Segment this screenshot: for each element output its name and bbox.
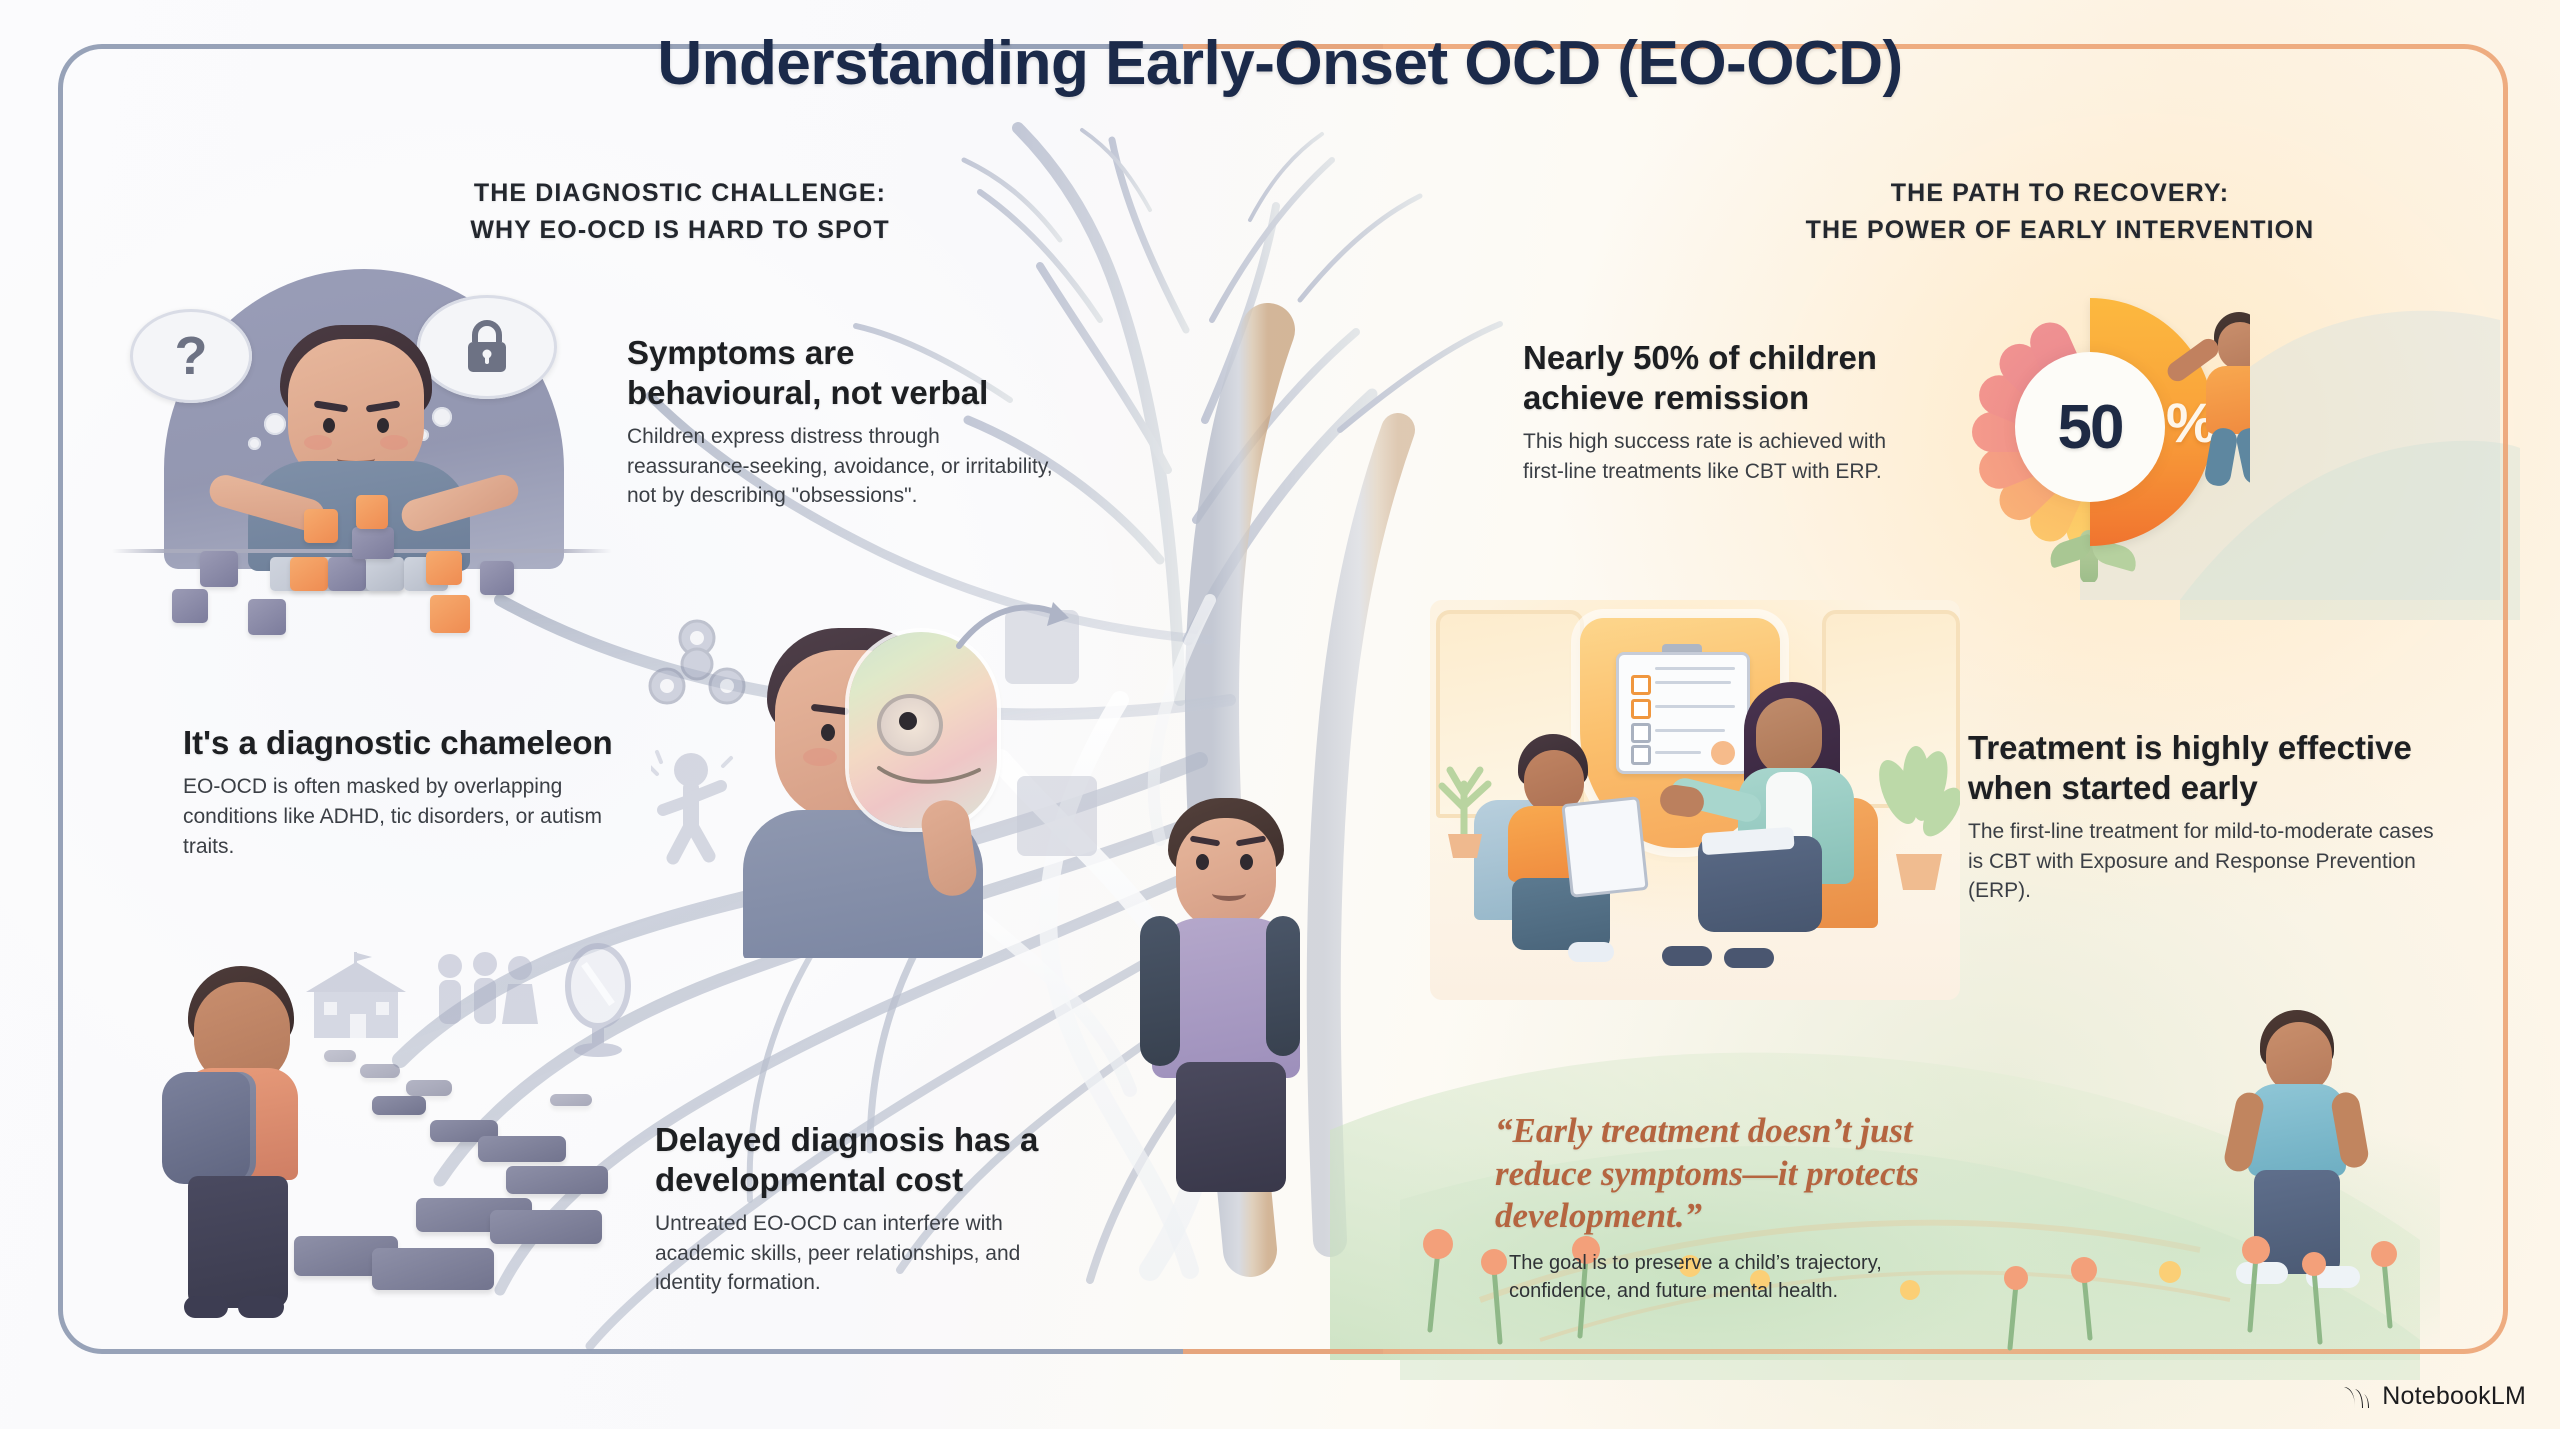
block-delayed-diagnosis: Delayed diagnosis has a developmental co… xyxy=(655,1120,1075,1298)
boy-legs xyxy=(188,1176,288,1308)
block-symptoms-behavioural: Symptoms are behavioural, not verbal Chi… xyxy=(627,333,1057,511)
boy-eye-right xyxy=(377,418,389,433)
block-body: This high success rate is achieved with … xyxy=(1523,427,1923,487)
plant-icon xyxy=(1430,750,1500,860)
stepping-stone-cracked xyxy=(490,1210,602,1244)
stepping-stone-cracked xyxy=(372,1248,494,1290)
block-body: Untreated EO-OCD can interfere with acad… xyxy=(655,1209,1075,1298)
handout-clipboard xyxy=(1561,796,1648,898)
question-mark-thought-bubble: ? xyxy=(130,309,252,403)
clipboard-line xyxy=(1655,681,1731,684)
school-icon xyxy=(296,952,416,1044)
block-in-hand-right xyxy=(356,495,388,529)
checkbox-checked xyxy=(1631,699,1651,719)
block-title: Symptoms are behavioural, not verbal xyxy=(627,333,1057,413)
scattered-block xyxy=(172,589,208,623)
boy-shoe-left xyxy=(184,1296,228,1318)
chameleon-smile xyxy=(875,754,985,794)
left-section-heading: THE DIAGNOSTIC CHALLENGE: WHY EO-OCD IS … xyxy=(300,175,1060,249)
right-section-heading-line2: THE POWER OF EARLY INTERVENTION xyxy=(1806,216,2315,244)
infographic-poster: Understanding Early-Onset OCD (EO-OCD) T… xyxy=(0,0,2560,1429)
boy-eye-left xyxy=(1196,854,1209,870)
thought-dot xyxy=(432,407,452,427)
boy-shoe-right xyxy=(238,1296,284,1318)
boy-legs xyxy=(1176,1062,1286,1192)
block-remission-rate: Nearly 50% of children achieve remission… xyxy=(1523,338,1923,486)
page-title: Understanding Early-Onset OCD (EO-OCD) xyxy=(0,28,2560,99)
left-section-heading-line2: WHY EO-OCD IS HARD TO SPOT xyxy=(470,216,889,244)
remission-gauge-value: 50 xyxy=(2015,352,2165,502)
stepping-stone-cracked xyxy=(506,1166,608,1194)
thought-dot xyxy=(264,413,286,435)
stamp-icon xyxy=(1711,741,1735,765)
right-section-heading: THE PATH TO RECOVERY: THE POWER OF EARLY… xyxy=(1640,175,2480,249)
stepping-stone xyxy=(324,1050,356,1062)
boy-shoe-left xyxy=(2236,1262,2288,1284)
checkbox-empty xyxy=(1631,723,1651,743)
block-body: EO-OCD is often masked by overlapping co… xyxy=(183,772,653,861)
block-orange xyxy=(290,557,328,591)
block-treatment-effective: Treatment is highly effective when start… xyxy=(1968,728,2448,906)
lock-icon xyxy=(461,318,513,376)
left-section-heading-line1: THE DIAGNOSTIC CHALLENGE: xyxy=(474,179,886,207)
peers-icon xyxy=(430,950,540,1036)
boy-shirt xyxy=(2248,1084,2346,1176)
scattered-block xyxy=(430,595,470,633)
clipboard-line xyxy=(1655,705,1735,708)
block-title: Treatment is highly effective when start… xyxy=(1968,728,2448,808)
curved-arrow-icon xyxy=(955,596,1075,666)
child-shirt xyxy=(2206,366,2250,434)
jumping-child xyxy=(2178,306,2250,506)
backpack-strap-right xyxy=(1266,916,1300,1056)
child-leg-right xyxy=(2234,426,2250,486)
boy-legs xyxy=(2254,1170,2340,1274)
stepping-stone-cracked xyxy=(478,1136,566,1162)
clipboard-line xyxy=(1655,729,1725,732)
lock-thought-bubble xyxy=(417,295,557,399)
puzzle-piece-icon xyxy=(1017,776,1097,856)
boy-eye-left xyxy=(323,418,335,433)
right-section-heading-line1: THE PATH TO RECOVERY: xyxy=(1891,179,2229,207)
scattered-block xyxy=(426,551,462,585)
therapist-shoe xyxy=(1724,948,1774,968)
block-grey xyxy=(366,557,404,591)
stepping-stone xyxy=(406,1080,452,1096)
boy-eye-right xyxy=(1240,854,1253,870)
stepping-stone xyxy=(550,1094,592,1106)
pull-quote-caption: The goal is to preserve a child’s trajec… xyxy=(1509,1249,1955,1306)
scattered-block xyxy=(248,599,286,635)
illustration-remission-gauge: 50 % xyxy=(1930,282,2250,582)
stepping-stone xyxy=(372,1096,426,1115)
child-shoe xyxy=(1568,942,1614,962)
block-body: The first-line treatment for mild-to-mod… xyxy=(1968,817,2448,906)
illustration-walking-boy xyxy=(2190,1000,2430,1300)
scattered-block xyxy=(200,551,238,587)
block-body: Children express distress through reassu… xyxy=(627,422,1057,511)
block-purple xyxy=(328,557,366,591)
checkbox-empty xyxy=(1631,745,1651,765)
plant-icon xyxy=(1874,746,1960,896)
therapist-head xyxy=(1756,698,1822,776)
fidget-spinner-icon xyxy=(645,616,749,712)
block-in-hand-left xyxy=(304,509,338,543)
block-title: It's a diagnostic chameleon xyxy=(183,723,653,763)
illustration-chameleon-mask xyxy=(625,588,1125,958)
boy-eye xyxy=(821,724,835,741)
restless-child-icon xyxy=(651,748,743,868)
backpack xyxy=(162,1072,256,1184)
checkbox-checked xyxy=(1631,675,1651,695)
notebooklm-logo-icon xyxy=(2341,1384,2371,1410)
boy-cheek-left xyxy=(304,435,332,450)
notebooklm-label: NotebookLM xyxy=(2382,1382,2526,1411)
illustration-therapy-session xyxy=(1430,600,1960,1000)
scattered-block xyxy=(480,561,514,595)
block-pull-quote: “Early treatment doesn’t just reduce sym… xyxy=(1495,1110,1955,1306)
pull-quote-text: “Early treatment doesn’t just reduce sym… xyxy=(1495,1110,1955,1238)
block-title: Delayed diagnosis has a developmental co… xyxy=(655,1120,1075,1200)
child-leg-left xyxy=(2203,426,2239,488)
illustration-entangled-boy xyxy=(1100,790,1400,1210)
child-head xyxy=(2218,322,2250,370)
boy-head xyxy=(1176,818,1276,930)
boy-cheek xyxy=(803,748,837,766)
block-title: Nearly 50% of children achieve remission xyxy=(1523,338,1923,418)
clipboard-line xyxy=(1655,667,1735,670)
boy-cheek-right xyxy=(380,435,408,450)
block-diagnostic-chameleon: It's a diagnostic chameleon EO-OCD is of… xyxy=(183,723,653,861)
clipboard-icon xyxy=(1616,652,1750,774)
backpack-strap-left xyxy=(1140,916,1180,1066)
therapist-shoe xyxy=(1662,946,1712,966)
illustration-stepping-stones xyxy=(110,930,640,1330)
boy-mouth xyxy=(1212,886,1246,901)
clipboard-line xyxy=(1655,751,1701,754)
notebooklm-watermark: NotebookLM xyxy=(2341,1382,2526,1411)
thought-dot xyxy=(248,437,261,450)
chameleon-pupil xyxy=(899,712,917,730)
boy-shoe-right xyxy=(2306,1266,2360,1288)
block-purple xyxy=(352,527,394,559)
mirror-icon xyxy=(562,942,634,1058)
illustration-boy-stacking-blocks: ? xyxy=(112,265,612,655)
stepping-stone xyxy=(360,1064,400,1078)
